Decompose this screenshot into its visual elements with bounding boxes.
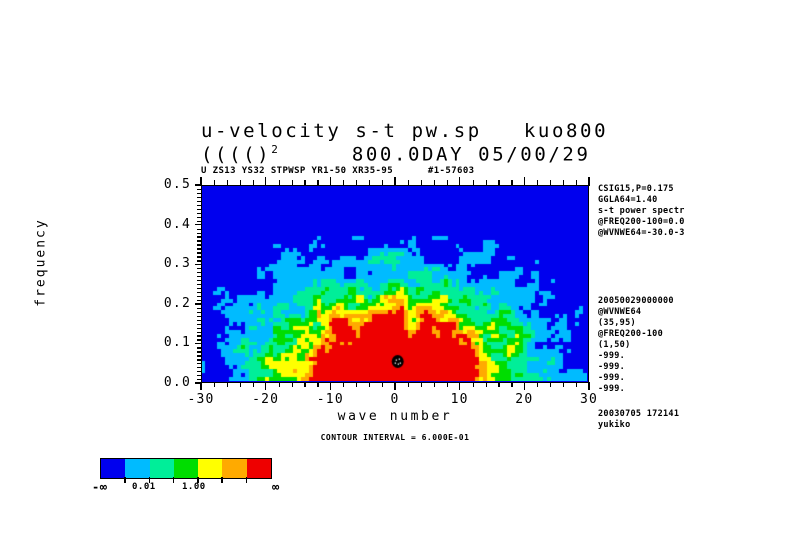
annotation-line-2: s-t power spectr [598, 206, 685, 217]
x-major-tick-top [394, 177, 396, 186]
x-minor-tick [279, 382, 280, 387]
x-minor-tick [576, 382, 577, 387]
x-major-tick-top [524, 177, 526, 186]
x-minor-tick-top [253, 180, 254, 186]
x-minor-tick [240, 382, 241, 387]
y-minor-tick [197, 252, 201, 253]
x-minor-tick-top [317, 180, 318, 186]
x-minor-tick-top [343, 180, 344, 186]
x-minor-tick-top [434, 180, 435, 186]
x-minor-tick-top [292, 180, 293, 186]
x-major-tick [524, 382, 526, 390]
x-minor-tick [421, 382, 422, 387]
annotation-line-4: (1,50) [598, 340, 674, 351]
y-minor-tick [197, 268, 201, 269]
x-minor-tick [434, 382, 435, 387]
colorbar-label-1: 0.01 [132, 482, 156, 492]
y-minor-tick [197, 233, 201, 234]
y-minor-tick [197, 276, 201, 277]
y-tick-label-0.1: 0.1 [125, 335, 191, 350]
colorbar-label-2: 1.00 [182, 482, 206, 492]
x-minor-tick-top [486, 180, 487, 186]
power-spectrum-field [202, 186, 587, 381]
x-minor-tick-top [227, 180, 228, 186]
y-major-tick [195, 224, 202, 226]
x-minor-tick [486, 382, 487, 387]
x-minor-tick [356, 382, 357, 387]
y-major-tick [195, 343, 202, 345]
y-minor-tick [197, 379, 201, 380]
y-tick-label-0.0: 0.0 [125, 375, 191, 390]
colorbar-band-5 [222, 459, 246, 478]
x-minor-tick [550, 382, 551, 387]
x-minor-tick-top [304, 180, 305, 186]
colorbar-band-1 [125, 459, 149, 478]
x-minor-tick-top [214, 180, 215, 186]
y-minor-tick [197, 335, 201, 336]
annotation-line-0: 20050029000000 [598, 296, 674, 307]
y-minor-tick [197, 205, 201, 206]
y-minor-tick [197, 201, 201, 202]
annotation-line-3: @FREQ200-100 [598, 329, 674, 340]
spectrum-plot-area [201, 185, 589, 383]
y-minor-tick [197, 332, 201, 333]
x-minor-tick [253, 382, 254, 387]
contour-interval-note: CONTOUR INTERVAL = 6.000E-01 [240, 433, 550, 442]
x-minor-tick-top [563, 180, 564, 186]
y-tick-label-0.2: 0.2 [125, 296, 191, 311]
x-minor-tick [408, 382, 409, 387]
x-major-tick [459, 382, 461, 390]
y-minor-tick [197, 217, 201, 218]
x-minor-tick-top [473, 180, 474, 186]
y-minor-tick [197, 328, 201, 329]
y-minor-tick [197, 280, 201, 281]
y-tick-label-0.4: 0.4 [125, 217, 191, 232]
x-major-tick-top [459, 177, 461, 186]
x-minor-tick [447, 382, 448, 387]
annotation-line-5: -999. [598, 351, 674, 362]
x-major-tick [200, 382, 202, 390]
x-minor-tick [214, 382, 215, 387]
x-minor-tick [369, 382, 370, 387]
x-minor-tick [292, 382, 293, 387]
x-minor-tick-top [356, 180, 357, 186]
y-minor-tick [197, 355, 201, 356]
x-minor-tick-top [421, 180, 422, 186]
y-minor-tick [197, 213, 201, 214]
y-minor-tick [197, 284, 201, 285]
annotation-block-header: CSIG15,P=0.175GGLA64=1.40s-t power spect… [598, 184, 685, 239]
x-minor-tick-top [537, 180, 538, 186]
y-minor-tick [197, 308, 201, 309]
colorbar-label-3: ∞ [272, 480, 280, 494]
colorbar-band-2 [150, 459, 174, 478]
x-major-tick [588, 382, 590, 390]
x-tick-label-10: 10 [426, 392, 494, 407]
x-minor-tick [498, 382, 499, 387]
colorbar-labels: -∞0.011.00∞ [88, 482, 288, 496]
colorbar-band-4 [198, 459, 222, 478]
y-minor-tick [197, 209, 201, 210]
y-minor-tick [197, 229, 201, 230]
y-major-tick [195, 264, 202, 266]
y-minor-tick [197, 316, 201, 317]
x-minor-tick-top [576, 180, 577, 186]
y-minor-tick [197, 260, 201, 261]
x-minor-tick [343, 382, 344, 387]
y-axis-label: frequency [34, 208, 49, 318]
x-tick-label-neg20: -20 [232, 392, 300, 407]
colorbar-label-0: -∞ [92, 480, 107, 494]
colorbar-band-6 [247, 459, 271, 478]
y-minor-tick [197, 272, 201, 273]
day-date-label: 800.0DAY 05/00/29 [352, 143, 591, 165]
annotation-line-1: @WVNWE64 [598, 307, 674, 318]
colorbar-band-3 [174, 459, 198, 478]
y-minor-tick [197, 320, 201, 321]
x-minor-tick [304, 382, 305, 387]
y-minor-tick [197, 189, 201, 190]
annotation-block-footer: 20030705 172141yukiko [598, 409, 679, 431]
colorbar [100, 458, 272, 479]
plot-title: u-velocity s-t pw.sp kuo800 [201, 120, 608, 142]
y-minor-tick [197, 296, 201, 297]
annotation-line-0: CSIG15,P=0.175 [598, 184, 685, 195]
x-minor-tick-top [511, 180, 512, 186]
colorbar-band-0 [101, 459, 125, 478]
y-minor-tick [197, 375, 201, 376]
x-minor-tick [537, 382, 538, 387]
x-minor-tick-top [382, 180, 383, 186]
y-minor-tick [197, 347, 201, 348]
y-minor-tick [197, 367, 201, 368]
x-minor-tick-top [447, 180, 448, 186]
x-minor-tick-top [240, 180, 241, 186]
x-tick-label-neg10: -10 [296, 392, 364, 407]
y-minor-tick [197, 288, 201, 289]
x-major-tick-top [265, 177, 267, 186]
x-major-tick-top [330, 177, 332, 186]
y-major-tick [195, 303, 202, 305]
variance-symbol: (((() [201, 143, 271, 165]
variance-exponent: 2 [271, 143, 278, 156]
x-minor-tick [227, 382, 228, 387]
x-major-tick-top [200, 177, 202, 186]
annotation-line-8: -999. [598, 384, 674, 395]
y-minor-tick [197, 363, 201, 364]
plot-subtitle-line: (((()2800.0DAY 05/00/29 [201, 143, 591, 165]
annotation-line-0: 20030705 172141 [598, 409, 679, 420]
run-parameters-line: U ZS13 YS32 STPWSP YR1-50 XR35-95 #1-576… [201, 166, 474, 176]
y-minor-tick [197, 240, 201, 241]
annotation-line-3: @FREQ200-100=0.0 [598, 217, 685, 228]
x-minor-tick-top [369, 180, 370, 186]
annotation-line-4: @WVNWE64=-30.0-3 [598, 228, 685, 239]
y-minor-tick [197, 244, 201, 245]
annotation-line-1: GGLA64=1.40 [598, 195, 685, 206]
x-tick-label-0: 0 [361, 392, 429, 407]
x-minor-tick [382, 382, 383, 387]
x-tick-label-20: 20 [490, 392, 558, 407]
y-minor-tick [197, 197, 201, 198]
annotation-line-6: -999. [598, 362, 674, 373]
x-minor-tick [473, 382, 474, 387]
annotation-block-ranges: 20050029000000@WVNWE64(35,95)@FREQ200-10… [598, 296, 674, 395]
y-minor-tick [197, 292, 201, 293]
annotation-line-2: (35,95) [598, 318, 674, 329]
y-minor-tick [197, 256, 201, 257]
x-major-tick [330, 382, 332, 390]
y-minor-tick [197, 193, 201, 194]
y-minor-tick [197, 371, 201, 372]
y-minor-tick [197, 339, 201, 340]
x-minor-tick [317, 382, 318, 387]
y-minor-tick [197, 312, 201, 313]
x-minor-tick-top [279, 180, 280, 186]
y-minor-tick [197, 359, 201, 360]
annotation-line-7: -999. [598, 373, 674, 384]
x-minor-tick [511, 382, 512, 387]
y-minor-tick [197, 221, 201, 222]
y-minor-tick [197, 248, 201, 249]
x-tick-label-neg30: -30 [167, 392, 235, 407]
y-tick-label-0.3: 0.3 [125, 256, 191, 271]
x-minor-tick [563, 382, 564, 387]
x-axis-label: wave number [260, 409, 530, 424]
x-minor-tick-top [408, 180, 409, 186]
x-minor-tick-top [498, 180, 499, 186]
x-major-tick [265, 382, 267, 390]
x-minor-tick-top [550, 180, 551, 186]
x-major-tick [394, 382, 396, 390]
annotation-line-1: yukiko [598, 420, 679, 431]
y-minor-tick [197, 324, 201, 325]
y-minor-tick [197, 351, 201, 352]
x-major-tick-top [588, 177, 590, 186]
y-minor-tick [197, 300, 201, 301]
y-tick-label-0.5: 0.5 [125, 177, 191, 192]
y-minor-tick [197, 236, 201, 237]
